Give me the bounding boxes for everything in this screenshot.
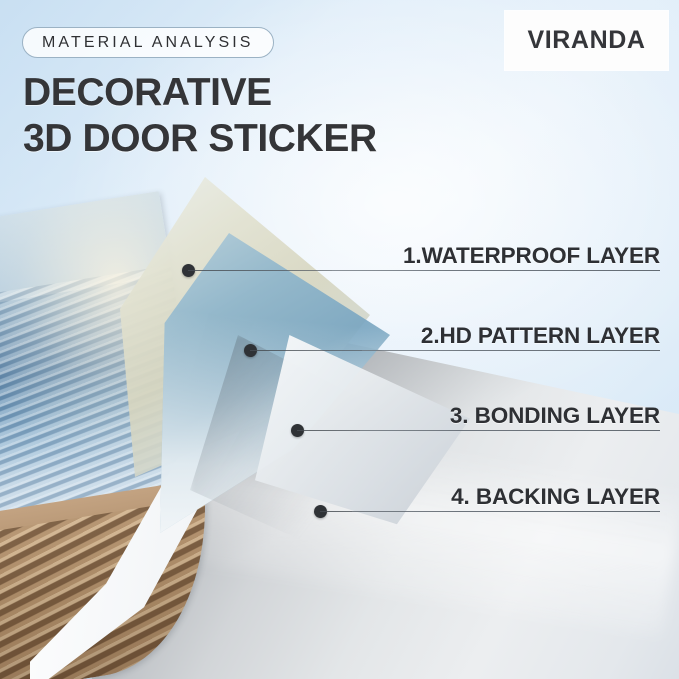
material-analysis-badge: MATERIAL ANALYSIS [22,27,274,58]
callout-label-hd-pattern: 2.HD PATTERN LAYER [421,323,660,349]
callout-label-bonding: 3. BONDING LAYER [450,403,660,429]
brand-logo: VIRANDA [505,11,668,70]
title-line-1: DECORATIVE [23,70,503,116]
callout-label-backing: 4. BACKING LAYER [451,484,660,510]
callout-label-waterproof: 1.WATERPROOF LAYER [403,243,660,269]
page-title: DECORATIVE 3D DOOR STICKER [23,70,503,162]
badge-label: MATERIAL ANALYSIS [42,34,254,52]
brand-name: VIRANDA [527,26,645,55]
infographic-canvas: MATERIAL ANALYSIS DECORATIVE 3D DOOR STI… [0,0,679,679]
callout-rule-hd-pattern [362,350,660,351]
callout-rule-backing [352,511,660,512]
callout-rule-bonding [360,430,660,431]
title-line-2: 3D DOOR STICKER [23,116,503,162]
callout-rule-waterproof [332,270,660,271]
